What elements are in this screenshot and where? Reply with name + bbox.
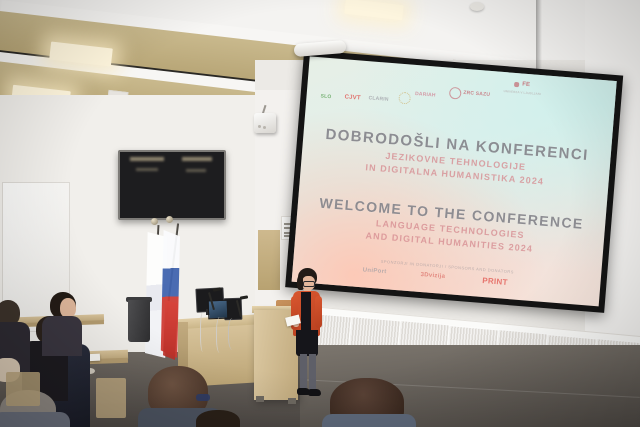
presenter-leg-right	[309, 354, 316, 390]
sponsor-logo-print: PRINT	[482, 276, 508, 287]
logo-cjvt: CJVT	[344, 94, 361, 101]
presenter-dress-top	[301, 292, 311, 332]
audience-face-3	[60, 298, 76, 318]
logo-fe: FE	[522, 82, 531, 89]
lectern-foot-1	[256, 396, 264, 402]
logo-dariah: DARIAH	[415, 91, 436, 99]
cable-1	[216, 317, 225, 353]
audience-body-3	[42, 316, 82, 356]
projection-screen: SLO CJVT CLARIN DARIAH ZRC SAZU FE UNIVE…	[306, 28, 636, 318]
audience-body-right	[322, 414, 416, 427]
presenter-sleeve-right	[315, 296, 322, 328]
audience-hair-far-right	[196, 410, 240, 427]
conference-room-photo: SLO CJVT CLARIN DARIAH ZRC SAZU FE UNIVE…	[0, 0, 640, 427]
logo-clarin: CLARIN	[368, 95, 389, 103]
audience-chair-1	[6, 372, 40, 406]
presenter-skirt	[296, 330, 318, 356]
wall-speaker-icon	[254, 113, 276, 133]
flag-finial-2	[166, 216, 173, 223]
presenter-leg-left	[300, 354, 307, 390]
lectern-foot-2	[288, 398, 296, 404]
sponsor-logo-uniport: UniPort	[363, 267, 387, 275]
slide-sponsor-label: SPONZORJI IN DONATORJI / SPONSORS AND DO…	[294, 252, 601, 282]
audience-chair-2	[96, 378, 126, 418]
cable-2	[228, 318, 239, 350]
audience-glasses-icon	[196, 394, 210, 401]
smoke-detector-icon	[470, 2, 484, 11]
presenter-glasses-icon	[303, 281, 315, 287]
presenter-shoe-right	[308, 389, 321, 396]
audience-body-grey	[0, 412, 70, 427]
wall-wood-panel	[258, 230, 280, 290]
logo-slo: SLO	[320, 93, 331, 100]
slide-surface: SLO CJVT CLARIN DARIAH ZRC SAZU FE UNIVE…	[292, 56, 617, 306]
wall-mounted-display[interactable]	[118, 150, 226, 220]
flag-finial-1	[151, 218, 158, 225]
logo-zrc-sazu: ZRC SAZU	[463, 90, 490, 98]
waste-bin	[128, 300, 150, 342]
sponsor-logo-3dvizija: 3Dvizija	[420, 272, 445, 280]
cable-3	[200, 312, 207, 352]
